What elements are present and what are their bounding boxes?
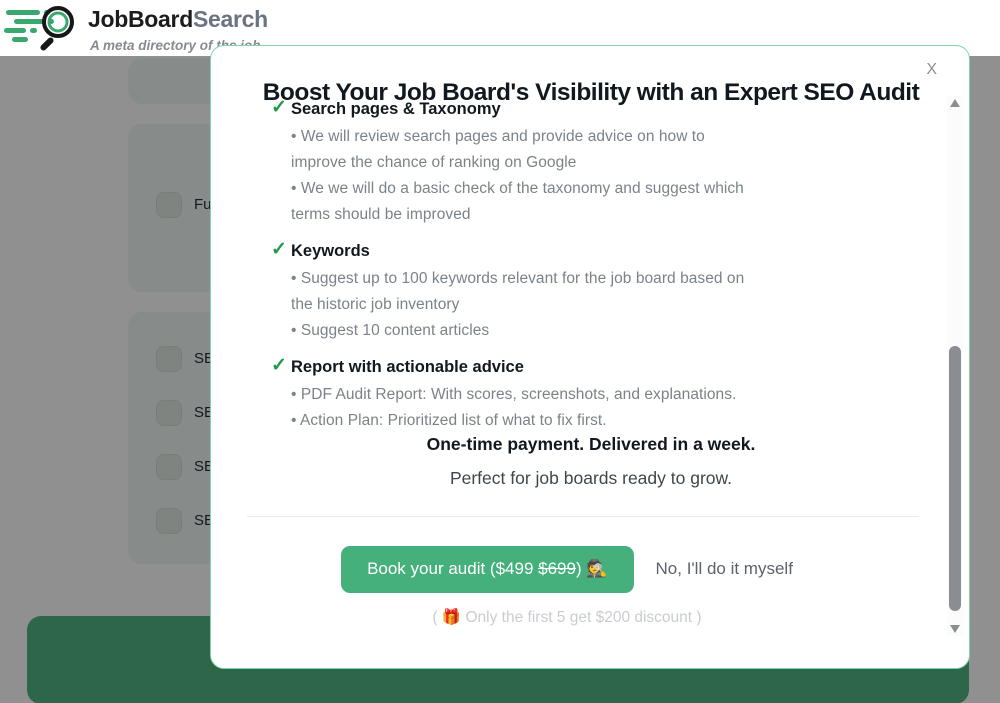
feature-heading-label: Report with actionable advice [291,358,524,376]
cta-price-suffix: ) [576,559,582,578]
payment-audience-line: Perfect for job boards ready to grow. [229,468,953,489]
discount-note: ( 🎁 Only the first 5 get $200 discount ) [211,608,923,627]
close-icon[interactable]: X [920,58,943,82]
feature-line: improve the chance of ranking on Google [211,150,923,176]
scroll-down-arrow-icon[interactable] [949,624,961,634]
discount-text: Only the first 5 get $200 discount [466,609,693,626]
checkmark-icon: ✓ [271,239,287,261]
discount-paren-open: ( [432,609,437,626]
payment-terms-line: One-time payment. Delivered in a week. [229,434,953,455]
modal-scroll-content: ✓ Search pages & Taxonomy • We will revi… [211,98,923,436]
decline-link[interactable]: No, I'll do it myself [656,559,793,579]
brand-title: JobBoardSearch [88,6,268,33]
feature-heading: ✓ Keywords [211,240,923,262]
brand-title-primary: JobBoard [88,6,193,32]
detective-emoji-icon: 🕵️ [586,559,607,578]
feature-heading-label: Keywords [291,242,370,260]
feature-line: the historic job inventory [211,292,923,318]
modal-scrollbar[interactable] [947,96,963,636]
brand-title-secondary: Search [193,6,268,32]
feature-heading: ✓ Report with actionable advice [211,356,923,378]
checkmark-icon: ✓ [271,355,287,377]
feature-line: • Suggest 10 content articles [211,318,923,344]
feature-line: • We we will do a basic check of the tax… [211,176,923,202]
modal-title: Boost Your Job Board's Visibility with a… [229,79,953,107]
discount-paren-close: ) [696,609,701,626]
cta-row: Book your audit ($499 $699) 🕵️ No, I'll … [211,546,923,593]
scrollbar-thumb[interactable] [949,346,961,611]
book-audit-button[interactable]: Book your audit ($499 $699) 🕵️ [341,546,633,593]
feature-line: • We will review search pages and provid… [211,124,923,150]
feature-line: • Action Plan: Prioritized list of what … [211,408,923,434]
feature-line: • PDF Audit Report: With scores, screens… [211,382,923,408]
gift-emoji-icon: 🎁 [442,609,461,626]
feature-line: terms should be improved [211,202,923,228]
magnifier-logo-icon [4,2,80,52]
cta-old-price: $699 [538,559,576,578]
section-divider [247,516,919,517]
feature-block: ✓ Keywords • Suggest up to 100 keywords … [211,240,923,344]
feature-block: ✓ Search pages & Taxonomy • We will revi… [211,98,923,228]
cta-price-prefix: Book your audit ($499 [367,559,538,578]
seo-audit-modal: X Boost Your Job Board's Visibility with… [210,45,970,669]
feature-block: ✓ Report with actionable advice • PDF Au… [211,356,923,434]
app-screen: Full info SE SE SE SE [0,0,1000,703]
scroll-up-arrow-icon[interactable] [949,98,961,108]
feature-line: • Suggest up to 100 keywords relevant fo… [211,266,923,292]
